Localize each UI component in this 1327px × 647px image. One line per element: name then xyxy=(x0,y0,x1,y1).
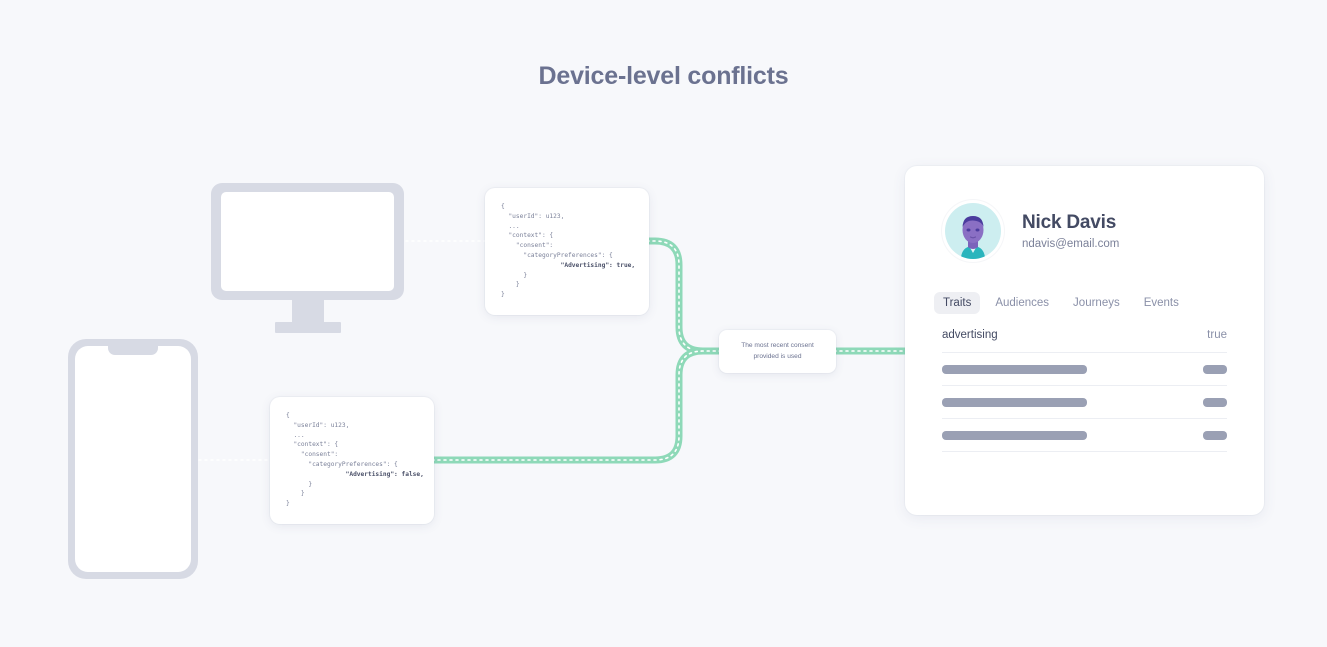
advertising-line-desktop: "Advertising": true, xyxy=(531,262,635,269)
trait-row xyxy=(942,353,1227,386)
trait-value-advertising: true xyxy=(1207,329,1227,341)
trait-key-advertising: advertising xyxy=(942,329,998,341)
trait-value-placeholder xyxy=(1203,431,1227,440)
tooltip-line-1: The most recent consent xyxy=(741,342,814,349)
tab-events[interactable]: Events xyxy=(1135,292,1188,314)
trait-value-placeholder xyxy=(1203,365,1227,374)
profile-identity: Nick Davis ndavis@email.com xyxy=(1022,212,1119,250)
code-block-desktop: { "userId": u123, ... "context": { "cons… xyxy=(501,202,633,300)
user-avatar-icon xyxy=(945,203,1001,259)
trait-row xyxy=(942,386,1227,419)
profile-tabs[interactable]: Traits Audiences Journeys Events xyxy=(934,292,1227,314)
code-card-desktop: { "userId": u123, ... "context": { "cons… xyxy=(485,188,649,315)
monitor-bezel xyxy=(211,183,404,300)
trait-key-placeholder xyxy=(942,431,1087,440)
connector-card-bottom-to-tooltip xyxy=(432,351,721,460)
tooltip-line-2: provided is used xyxy=(753,353,801,360)
traits-list: advertising true xyxy=(942,314,1227,452)
avatar xyxy=(942,200,1004,262)
tab-journeys[interactable]: Journeys xyxy=(1064,292,1129,314)
trait-value-placeholder xyxy=(1203,398,1227,407)
code-block-mobile: { "userId": u123, ... "context": { "cons… xyxy=(286,411,418,509)
phone-notch xyxy=(108,346,158,355)
code-card-mobile: { "userId": u123, ... "context": { "cons… xyxy=(270,397,434,524)
advertising-line-mobile: "Advertising": false, xyxy=(316,471,424,478)
monitor-stand-neck xyxy=(292,300,324,322)
profile-name: Nick Davis xyxy=(1022,212,1119,234)
desktop-monitor-illustration xyxy=(211,183,404,333)
profile-header: Nick Davis ndavis@email.com xyxy=(942,200,1227,262)
profile-card: Nick Davis ndavis@email.com Traits Audie… xyxy=(905,166,1264,515)
trait-key-placeholder xyxy=(942,365,1087,374)
mobile-phone-illustration xyxy=(68,339,198,579)
monitor-screen xyxy=(221,192,394,291)
tab-traits[interactable]: Traits xyxy=(934,292,980,314)
monitor-stand-base xyxy=(275,322,341,333)
tab-audiences[interactable]: Audiences xyxy=(986,292,1058,314)
profile-email: ndavis@email.com xyxy=(1022,238,1119,250)
trait-row xyxy=(942,419,1227,452)
phone-screen xyxy=(75,346,191,572)
trait-row: advertising true xyxy=(942,314,1227,353)
connector-card-top-to-tooltip xyxy=(647,241,721,351)
conflict-resolution-tooltip: The most recent consent provided is used xyxy=(719,330,836,373)
diagram-stage: Device-level conflicts xyxy=(0,0,1327,647)
trait-key-placeholder xyxy=(942,398,1087,407)
